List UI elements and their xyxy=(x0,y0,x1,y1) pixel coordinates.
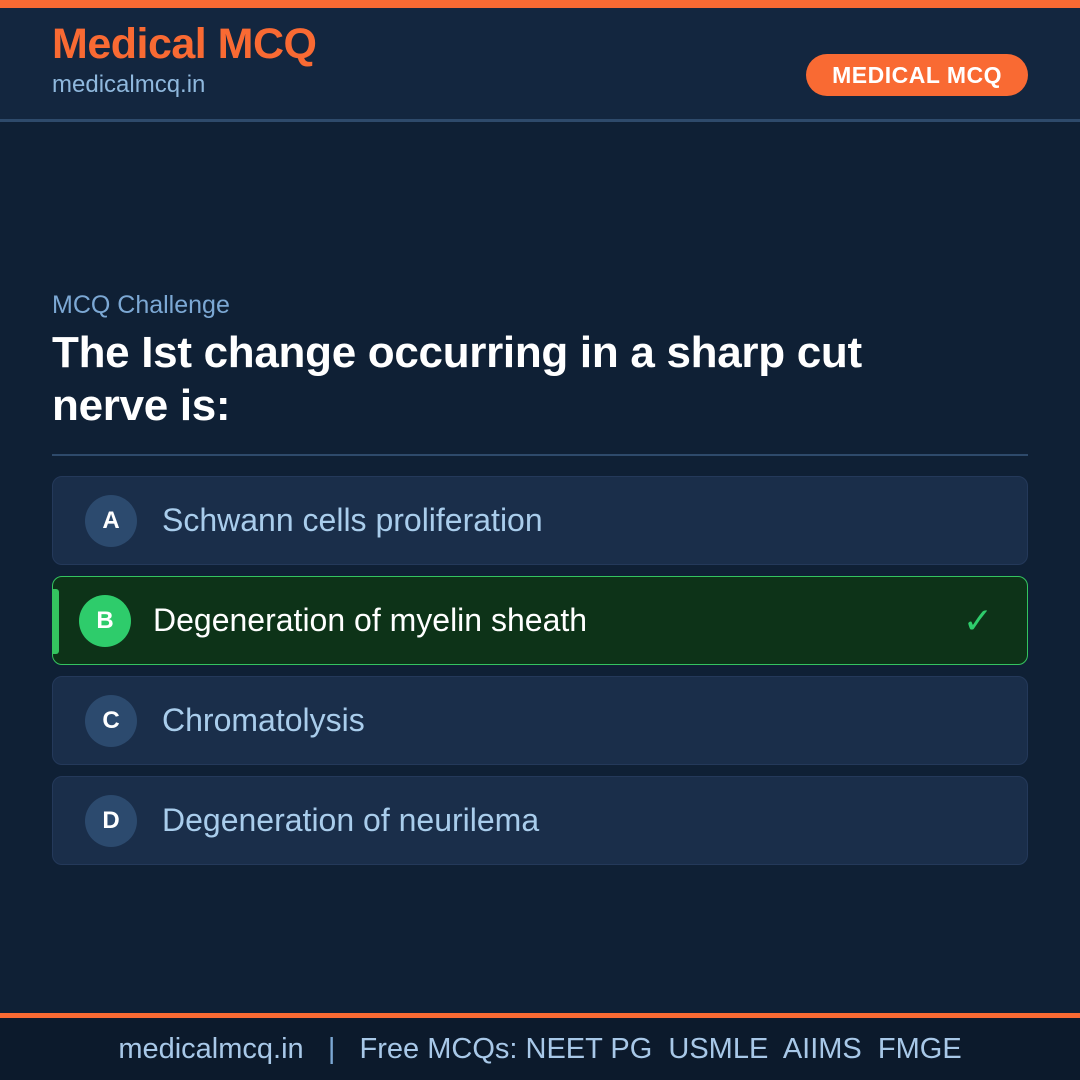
footer-tagline: Free MCQs: NEET PG USMLE AIIMS FMGE xyxy=(360,1033,962,1066)
header-badge-label: MEDICAL MCQ xyxy=(832,62,1002,89)
option-letter-badge: B xyxy=(79,595,131,647)
option-row-a[interactable]: A Schwann cells proliferation ✓ xyxy=(52,476,1028,565)
footer-inner: medicalmcq.in | Free MCQs: NEET PG USMLE… xyxy=(118,1033,961,1066)
option-row-b[interactable]: B Degeneration of myelin sheath ✓ xyxy=(52,576,1028,665)
correct-accent-bar xyxy=(53,589,59,654)
options-list: A Schwann cells proliferation ✓ B Degene… xyxy=(52,476,1028,865)
top-accent-bar xyxy=(0,0,1080,8)
option-label: Degeneration of myelin sheath xyxy=(153,603,587,638)
brand-block[interactable]: Medical MCQ medicalmcq.in xyxy=(52,22,317,99)
eyebrow-label: MCQ Challenge xyxy=(52,290,1028,320)
brand-domain: medicalmcq.in xyxy=(52,72,317,98)
option-row-d[interactable]: D Degeneration of neurilema ✓ xyxy=(52,776,1028,865)
option-label: Schwann cells proliferation xyxy=(162,503,543,538)
page-footer: medicalmcq.in | Free MCQs: NEET PG USMLE… xyxy=(0,1013,1080,1080)
header-badge[interactable]: MEDICAL MCQ xyxy=(806,54,1028,96)
question-divider xyxy=(52,454,1028,456)
option-row-c[interactable]: C Chromatolysis ✓ xyxy=(52,676,1028,765)
option-label: Chromatolysis xyxy=(162,703,365,738)
footer-site-link[interactable]: medicalmcq.in xyxy=(118,1033,303,1066)
brand-title: Medical MCQ xyxy=(52,22,317,67)
option-letter-badge: C xyxy=(85,695,137,747)
question-content: MCQ Challenge The Ist change occurring i… xyxy=(52,290,1028,865)
page-header: Medical MCQ medicalmcq.in MEDICAL MCQ xyxy=(0,8,1080,122)
question-text: The Ist change occurring in a sharp cut … xyxy=(52,326,932,432)
check-icon: ✓ xyxy=(963,603,993,639)
option-letter-badge: A xyxy=(85,495,137,547)
option-letter-badge: D xyxy=(85,795,137,847)
option-label: Degeneration of neurilema xyxy=(162,803,539,838)
footer-separator: | xyxy=(304,1033,360,1066)
